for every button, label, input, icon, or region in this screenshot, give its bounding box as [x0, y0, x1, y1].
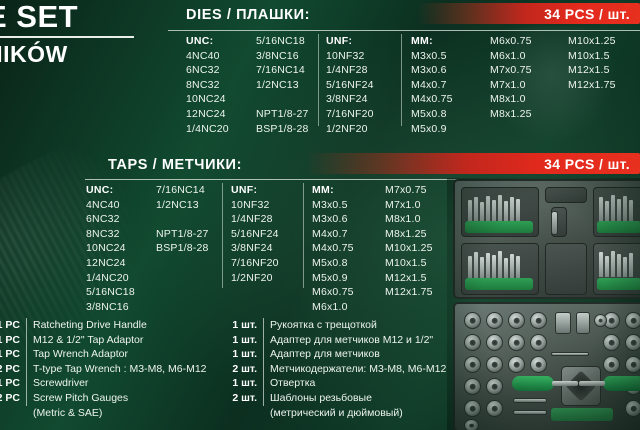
accessory-label: Метчикодержатели: M3-M8, M6-M12: [270, 362, 446, 377]
die: [594, 314, 607, 327]
die: [464, 400, 481, 417]
tap-row: [599, 195, 633, 221]
section-header-dies: DIES / ПЛАШКИ:: [186, 2, 310, 28]
accessory-label: Tap Wrench Adaptor: [33, 347, 128, 362]
list-item: M12x1.75: [385, 285, 433, 300]
tray: [545, 187, 587, 203]
list-item: M3x0.5: [411, 49, 453, 64]
taps-mm-column-2: M7x0.75 M7x1.0 M8x1.0 M8x1.25 M10x1.25 M…: [385, 183, 433, 300]
list-item: M8x1.0: [490, 92, 532, 107]
ratchet-handle: [513, 398, 547, 403]
list-item: M5x0.9: [411, 122, 453, 137]
dies-unf-column-1: UNF: 10NF32 1/4NF28 5/16NF24 3/8NF24 7/1…: [326, 34, 374, 136]
list-item: 12NC24: [86, 256, 135, 271]
dies-mm-column-2: M6x0.75 M6x1.0 M7x0.75 M7x1.0 M8x1.0 M8x…: [490, 34, 532, 122]
tap-holder-strip: [597, 278, 640, 290]
screw-pitch-gauge: [513, 410, 547, 415]
accessories-list-en: 1 PC Ratcheting Drive Handle 1 PC M12 & …: [0, 318, 216, 420]
dies-count-text: 34 PCS / шт.: [544, 6, 640, 22]
list-item: 1 PC M12 & 1/2" Tap Adaptor: [0, 333, 216, 348]
section-header-taps: TAPS / МЕТЧИКИ:: [108, 152, 242, 178]
list-item: BSP1/8-28: [156, 241, 209, 256]
list-item: M5x0.9: [312, 271, 354, 286]
dies-unf-header: UNF:: [326, 34, 374, 49]
taps-count-text: 34 PCS / шт.: [544, 156, 640, 172]
list-item: 1 PC Ratcheting Drive Handle: [0, 318, 216, 333]
title-sub-text: NIKÓW: [0, 41, 170, 67]
taps-unc-column-2: 7/16NC14 1/2NC13 NPT1/8-27 BSP1/8-28: [156, 183, 209, 256]
list-item: NPT1/8-27: [156, 227, 209, 242]
case-base: [453, 302, 640, 430]
list-item: M5x0.8: [312, 256, 354, 271]
list-item: M5x0.8: [411, 107, 453, 122]
tap-holder-strip: [597, 221, 640, 233]
die: [464, 419, 479, 430]
tap-row: [468, 251, 520, 278]
list-item: M10x1.25: [385, 241, 433, 256]
accessory-divider: [263, 362, 264, 377]
list-item: 1 PC Tap Wrench Adaptor: [0, 347, 216, 362]
list-item: NPT1/8-27: [256, 107, 309, 122]
dies-mm-column-3: M10x1.25 M10x1.5 M12x1.5 M12x1.75: [568, 34, 616, 92]
accessory-divider-blank: [26, 406, 27, 421]
extension-bar: [551, 352, 589, 356]
accessory-continuation: (Metric & SAE): [33, 406, 102, 421]
list-item: M7x1.0: [490, 78, 532, 93]
list-item: 5/16NC18: [86, 285, 135, 300]
die: [508, 334, 525, 351]
die: [486, 312, 503, 329]
list-item: 1/2NF20: [231, 271, 279, 286]
list-item: 5/16NF24: [231, 227, 279, 242]
accessory-label: Рукоятка с трещоткой: [270, 318, 377, 333]
die-stock-holder: [561, 366, 601, 406]
die: [625, 400, 640, 417]
list-item: 3/8NF24: [231, 241, 279, 256]
accessory-qty: 1 шт.: [225, 376, 257, 391]
list-item: M8x1.0: [385, 212, 433, 227]
list-item: 10NC24: [186, 92, 229, 107]
list-item: 3/8NC16: [256, 49, 309, 64]
list-item: M10x1.5: [568, 49, 616, 64]
list-item: 1 шт. Адаптер для метчиков M12 и 1/2": [225, 333, 485, 348]
tap-adaptor: [555, 312, 571, 334]
tap-row: [468, 195, 520, 222]
die: [464, 378, 481, 395]
accessory-divider: [26, 362, 27, 377]
list-item: M10x1.5: [385, 256, 433, 271]
taps-unc-column-1: UNC: 4NC40 6NC32 8NC32 10NC24 12NC24 1/4…: [86, 183, 135, 314]
list-item: M12x1.5: [385, 271, 433, 286]
list-item: M6x1.0: [490, 49, 532, 64]
dies-mm-column-1: MM: M3x0.5 M3x0.6 M4x0.7 M4x0.75 M5x0.8 …: [411, 34, 453, 136]
list-item: 8NC32: [86, 227, 135, 242]
list-item: BSP1/8-28: [256, 122, 309, 137]
list-item: 1/2NC13: [156, 198, 209, 213]
die: [603, 334, 620, 351]
accessory-divider: [26, 391, 27, 406]
die: [530, 334, 547, 351]
die: [625, 312, 640, 329]
die: [486, 356, 503, 373]
tap-adaptor: [576, 312, 590, 334]
accessory-divider: [263, 347, 264, 362]
tap-holder-strip: [465, 221, 533, 233]
list-item: 1/2NF20: [326, 122, 374, 137]
list-item: M3x0.6: [411, 63, 453, 78]
accessory-divider: [263, 333, 264, 348]
die: [486, 378, 503, 395]
list-item: M12x1.75: [568, 78, 616, 93]
list-item: M12x1.5: [568, 63, 616, 78]
taps-unf-column-1: UNF: 10NF32 1/4NF28 5/16NF24 3/8NF24 7/1…: [231, 183, 279, 285]
list-item: 7/16NF20: [326, 107, 374, 122]
dies-unc-column-1: UNC: 4NC40 6NC32 8NC32 10NC24 12NC24 1/4…: [186, 34, 229, 136]
dies-unc-column-2: 5/16NC18 3/8NC16 7/16NC14 1/2NC13 NPT1/8…: [256, 34, 309, 136]
page-title: E SET NIKÓW: [0, 0, 170, 67]
accessory-qty: 1 PC: [0, 376, 20, 391]
accessory-qty: 1 шт.: [225, 318, 257, 333]
accessory-label: T-type Tap Wrench : M3-M8, M6-M12: [33, 362, 207, 377]
list-item: 1/4NF28: [231, 212, 279, 227]
list-item: M6x0.75: [490, 34, 532, 49]
list-item: 8NC32: [186, 78, 229, 93]
list-item: 1 PC Screwdriver: [0, 376, 216, 391]
accessory-divider: [26, 347, 27, 362]
list-item: M4x0.7: [312, 227, 354, 242]
list-item: 5/16NF24: [326, 78, 374, 93]
list-item: (Metric & SAE): [0, 406, 216, 421]
accessory-divider: [26, 376, 27, 391]
list-item: 1/4NF28: [326, 63, 374, 78]
accessory-qty: 1 PC: [0, 347, 20, 362]
list-item: 4NC40: [186, 49, 229, 64]
list-item: M10x1.25: [568, 34, 616, 49]
die: [464, 356, 481, 373]
dies-divider-1: [318, 34, 319, 126]
list-item: M3x0.6: [312, 212, 354, 227]
product-photo: [447, 178, 640, 430]
list-item: 6NC32: [86, 212, 135, 227]
die: [464, 334, 481, 351]
case-lid: [453, 179, 640, 299]
die: [508, 312, 525, 329]
die: [464, 312, 481, 329]
title-divider: [0, 36, 134, 38]
list-item: M7x0.75: [490, 63, 532, 78]
accessory-divider: [263, 376, 264, 391]
taps-divider-2: [303, 183, 304, 288]
list-item: M4x0.75: [411, 92, 453, 107]
accessory-label: Шаблоны резьбовые: [270, 391, 372, 406]
taps-unc-header: UNC:: [86, 183, 135, 198]
accessory-label: Screw Pitch Gauges: [33, 391, 128, 406]
accessory-qty: 2 шт.: [225, 391, 257, 406]
taps-divider-1: [222, 183, 223, 288]
taps-mm-column-1: MM: M3x0.5 M3x0.6 M4x0.7 M4x0.75 M5x0.8 …: [312, 183, 354, 314]
accessory-divider: [26, 333, 27, 348]
list-item: 7/16NC14: [156, 183, 209, 198]
taps-mm-header: MM:: [312, 183, 354, 198]
accessories-list-ru: 1 шт. Рукоятка с трещоткой 1 шт. Адаптер…: [225, 318, 485, 420]
list-item: 4NC40: [86, 198, 135, 213]
promo-banner: E SET NIKÓW DIES / ПЛАШКИ: 34 PCS / шт. …: [0, 0, 640, 430]
accessory-qty: 1 шт.: [225, 333, 257, 348]
accessory-qty: 1 шт.: [225, 347, 257, 362]
list-item: 2 PC T-type Tap Wrench : M3-M8, M6-M12: [0, 362, 216, 377]
accessory-qty: 1 PC: [0, 333, 20, 348]
list-item: 1 шт. Отвертка: [225, 376, 485, 391]
die: [530, 356, 547, 373]
dies-mm-header: MM:: [411, 34, 453, 49]
dies-header-rule: [168, 30, 640, 31]
list-item: 1 шт. Адаптер для метчиков: [225, 347, 485, 362]
list-item: M8x1.25: [490, 107, 532, 122]
die: [603, 356, 620, 373]
die: [486, 334, 503, 351]
tray: [545, 243, 587, 295]
die: [530, 312, 547, 329]
list-item: M7x0.75: [385, 183, 433, 198]
list-item: 3/8NC16: [86, 300, 135, 315]
list-item: 7/16NF20: [231, 256, 279, 271]
dies-count-badge: 34 PCS / шт.: [417, 3, 640, 24]
list-item: 5/16NC18: [256, 34, 309, 49]
list-item: 10NF32: [326, 49, 374, 64]
accessory-divider: [26, 318, 27, 333]
accessory-label: Ratcheting Drive Handle: [33, 318, 147, 333]
list-item: 1/4NC20: [186, 122, 229, 137]
list-item: 7/16NC14: [256, 63, 309, 78]
list-item: M3x0.5: [312, 198, 354, 213]
accessory-divider: [263, 318, 264, 333]
accessory-qty: 2 PC: [0, 362, 20, 377]
gauge-strip: [551, 408, 613, 421]
die: [508, 356, 525, 373]
accessory-label: M12 & 1/2" Tap Adaptor: [33, 333, 143, 348]
accessory-continuation: (метрический и дюймовый): [270, 406, 403, 421]
accessory-label: Screwdriver: [33, 376, 88, 391]
accessory-label: Адаптер для метчиков M12 и 1/2": [270, 333, 433, 348]
tap-holder-strip: [465, 278, 533, 290]
list-item: 2 шт. Метчикодержатели: M3-M8, M6-M12: [225, 362, 485, 377]
list-item: 2 PC Screw Pitch Gauges: [0, 391, 216, 406]
accessory-qty: 1 PC: [0, 318, 20, 333]
accessory-label: Адаптер для метчиков: [270, 347, 380, 362]
title-main-text: E SET: [0, 0, 170, 34]
dies-divider-2: [401, 34, 402, 126]
list-item: 3/8NF24: [326, 92, 374, 107]
list-item: 1/2NC13: [256, 78, 309, 93]
dies-unc-header: UNC:: [186, 34, 229, 49]
taps-unf-header: UNF:: [231, 183, 279, 198]
list-item: 10NC24: [86, 241, 135, 256]
list-item: 12NC24: [186, 107, 229, 122]
accessory-qty: 2 PC: [0, 391, 20, 406]
die: [486, 400, 503, 417]
taps-count-badge: 34 PCS / шт.: [305, 153, 640, 174]
list-item: (метрический и дюймовый): [225, 406, 485, 421]
accessory-divider-blank: [263, 406, 264, 421]
list-item: 6NC32: [186, 63, 229, 78]
list-item: 1/4NC20: [86, 271, 135, 286]
accessory-label: Отвертка: [270, 376, 315, 391]
accessory-divider: [263, 391, 264, 406]
list-item: 2 шт. Шаблоны резьбовые: [225, 391, 485, 406]
list-item: M7x1.0: [385, 198, 433, 213]
die: [625, 356, 640, 373]
tap-row: [599, 251, 633, 277]
list-item: 1 шт. Рукоятка с трещоткой: [225, 318, 485, 333]
list-item: M8x1.25: [385, 227, 433, 242]
list-item: M4x0.7: [411, 78, 453, 93]
list-item: 10NF32: [231, 198, 279, 213]
accessory-qty: 2 шт.: [225, 362, 257, 377]
list-item: M6x0.75: [312, 285, 354, 300]
list-item: M4x0.75: [312, 241, 354, 256]
die: [625, 334, 640, 351]
list-item: M6x1.0: [312, 300, 354, 315]
screwdriver-shaft: [551, 211, 558, 235]
